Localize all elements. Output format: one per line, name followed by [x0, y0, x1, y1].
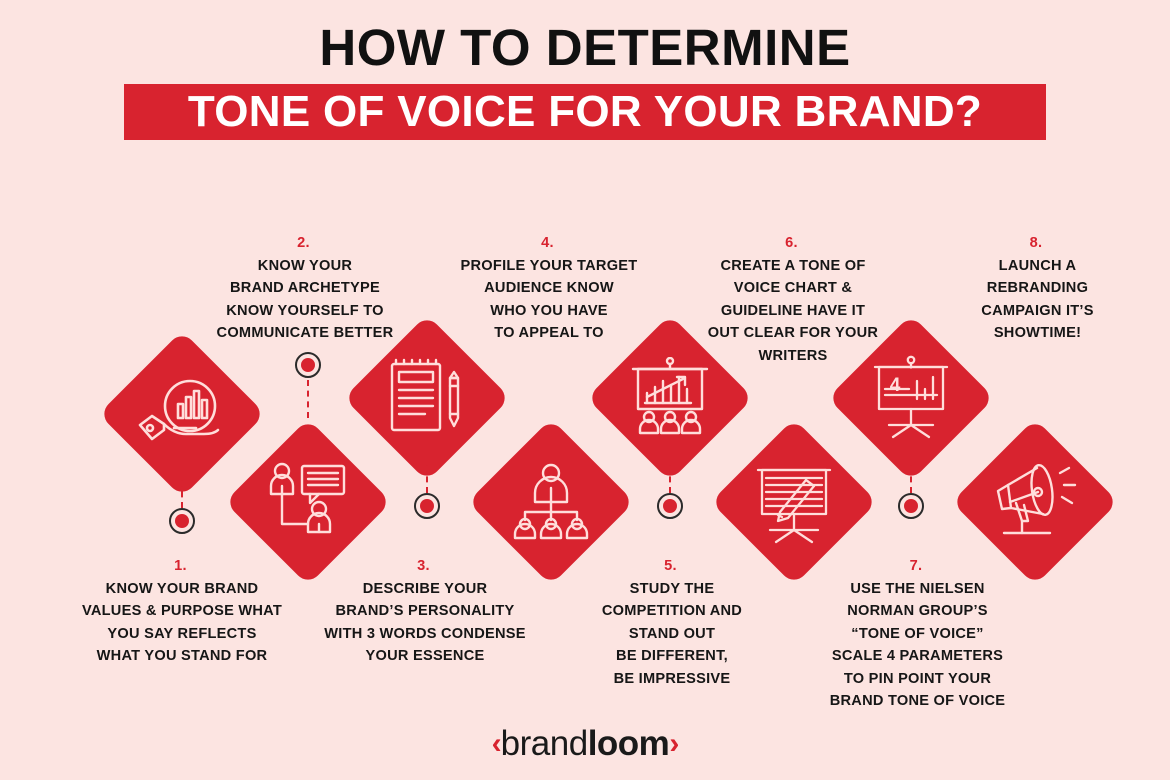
connector-line [426, 455, 428, 493]
caption-line: COMPETITION AND [562, 600, 782, 623]
step-number: 2. [190, 232, 417, 255]
step-caption-4: 4.PROFILE YOUR TARGET AUDIENCE KNOW WHO … [434, 232, 664, 345]
caption-line: KNOW YOURSELF TO [190, 300, 420, 323]
connector-dot [295, 352, 321, 378]
connector-dot [414, 493, 440, 519]
caption-line: STUDY THE [562, 578, 782, 601]
connector-dot [657, 493, 683, 519]
connector-dot [169, 508, 195, 534]
step-caption-5: 5.STUDY THE COMPETITION AND STAND OUT BE… [562, 555, 782, 690]
caption-line: KNOW YOUR BRAND [62, 578, 302, 601]
caption-line: CREATE A TONE OF [678, 255, 908, 278]
step-number: 5. [562, 555, 779, 578]
caption-lines: 5.STUDY THE COMPETITION AND STAND OUT BE… [562, 555, 782, 690]
connector-line [307, 380, 309, 418]
connector-1 [169, 470, 195, 536]
caption-line: BE DIFFERENT, [562, 645, 782, 668]
caption-line: GUIDELINE HAVE IT [678, 300, 908, 323]
caption-line: VOICE CHART & [678, 277, 908, 300]
caption-line: YOU SAY REFLECTS [62, 623, 302, 646]
caption-line: PROFILE YOUR TARGET [434, 255, 664, 278]
caption-line: AUDIENCE KNOW [434, 277, 664, 300]
logo-loom-text: loom [588, 724, 670, 763]
caption-line: LAUNCH A [930, 255, 1145, 278]
page-title-line1: HOW TO DETERMINE [0, 18, 1170, 77]
caption-line: VALUES & PURPOSE WHAT [62, 600, 302, 623]
caption-lines: 2.KNOW YOUR BRAND ARCHETYPE KNOW YOURSEL… [190, 232, 420, 345]
caption-line: TO APPEAL TO [434, 322, 664, 345]
caption-line: STAND OUT [562, 623, 782, 646]
step-caption-2: 2.KNOW YOUR BRAND ARCHETYPE KNOW YOURSEL… [190, 232, 420, 345]
caption-line: BRAND’S PERSONALITY [305, 600, 545, 623]
connector-line [669, 455, 671, 493]
connector-7 [898, 455, 924, 521]
caption-line: COMMUNICATE BETTER [190, 322, 420, 345]
caption-lines: 8.LAUNCH A REBRANDING CAMPAIGN IT’S SHOW… [930, 232, 1145, 345]
caption-lines: 6.CREATE A TONE OF VOICE CHART & GUIDELI… [678, 232, 908, 367]
caption-line: SHOWTIME! [930, 322, 1145, 345]
title-highlight-band: TONE OF VOICE FOR YOUR BRAND? [124, 84, 1046, 140]
brandloom-logo[interactable]: ‹brandloom› [0, 724, 1170, 764]
caption-line: SCALE 4 PARAMETERS [805, 645, 1030, 668]
caption-line: OUT CLEAR FOR YOUR [678, 322, 908, 345]
caption-line: REBRANDING [930, 277, 1145, 300]
step-caption-6: 6.CREATE A TONE OF VOICE CHART & GUIDELI… [678, 232, 908, 367]
page-title-line2: TONE OF VOICE FOR YOUR BRAND? [124, 84, 1046, 140]
caption-line: BE IMPRESSIVE [562, 668, 782, 691]
caption-line: “TONE OF VOICE” [805, 623, 1030, 646]
caption-line: USE THE NIELSEN [805, 578, 1030, 601]
caption-line: CAMPAIGN IT’S [930, 300, 1145, 323]
caption-line: DESCRIBE YOUR [305, 578, 545, 601]
caption-line: NORMAN GROUP’S [805, 600, 1030, 623]
caption-lines: 1.KNOW YOUR BRAND VALUES & PURPOSE WHAT … [62, 555, 302, 668]
caption-line: YOUR ESSENCE [305, 645, 545, 668]
logo-brand-text: brand [501, 724, 588, 763]
caption-line: BRAND TONE OF VOICE [805, 690, 1030, 713]
step-caption-1: 1.KNOW YOUR BRAND VALUES & PURPOSE WHAT … [62, 555, 302, 668]
connector-3 [414, 455, 440, 521]
caption-line: WRITERS [678, 345, 908, 368]
caption-lines: 7.USE THE NIELSEN NORMAN GROUP’S “TONE O… [805, 555, 1030, 713]
connector-2 [295, 352, 321, 418]
connector-line [181, 470, 183, 508]
step-number: 8. [930, 232, 1142, 255]
step-caption-7: 7.USE THE NIELSEN NORMAN GROUP’S “TONE O… [805, 555, 1030, 713]
caption-line: BRAND ARCHETYPE [190, 277, 420, 300]
caption-line: KNOW YOUR [190, 255, 420, 278]
step-number: 1. [62, 555, 299, 578]
step-caption-3: 3.DESCRIBE YOUR BRAND’S PERSONALITY WITH… [305, 555, 545, 668]
step-number: 7. [805, 555, 1027, 578]
step-number: 4. [434, 232, 661, 255]
caption-line: WITH 3 WORDS CONDENSE [305, 623, 545, 646]
caption-line: WHAT YOU STAND FOR [62, 645, 302, 668]
connector-5 [657, 455, 683, 521]
caption-lines: 4.PROFILE YOUR TARGET AUDIENCE KNOW WHO … [434, 232, 664, 345]
caption-line: TO PIN POINT YOUR [805, 668, 1030, 691]
connector-line [910, 455, 912, 493]
step-number: 6. [678, 232, 905, 255]
caption-lines: 3.DESCRIBE YOUR BRAND’S PERSONALITY WITH… [305, 555, 545, 668]
step-number: 3. [305, 555, 542, 578]
caption-line: WHO YOU HAVE [434, 300, 664, 323]
infographic-canvas: HOW TO DETERMINE TONE OF VOICE FOR YOUR … [0, 0, 1170, 780]
connector-dot [898, 493, 924, 519]
step-caption-8: 8.LAUNCH A REBRANDING CAMPAIGN IT’S SHOW… [930, 232, 1145, 345]
chevron-left-icon: ‹ [492, 727, 501, 760]
chevron-right-icon: › [669, 727, 678, 760]
